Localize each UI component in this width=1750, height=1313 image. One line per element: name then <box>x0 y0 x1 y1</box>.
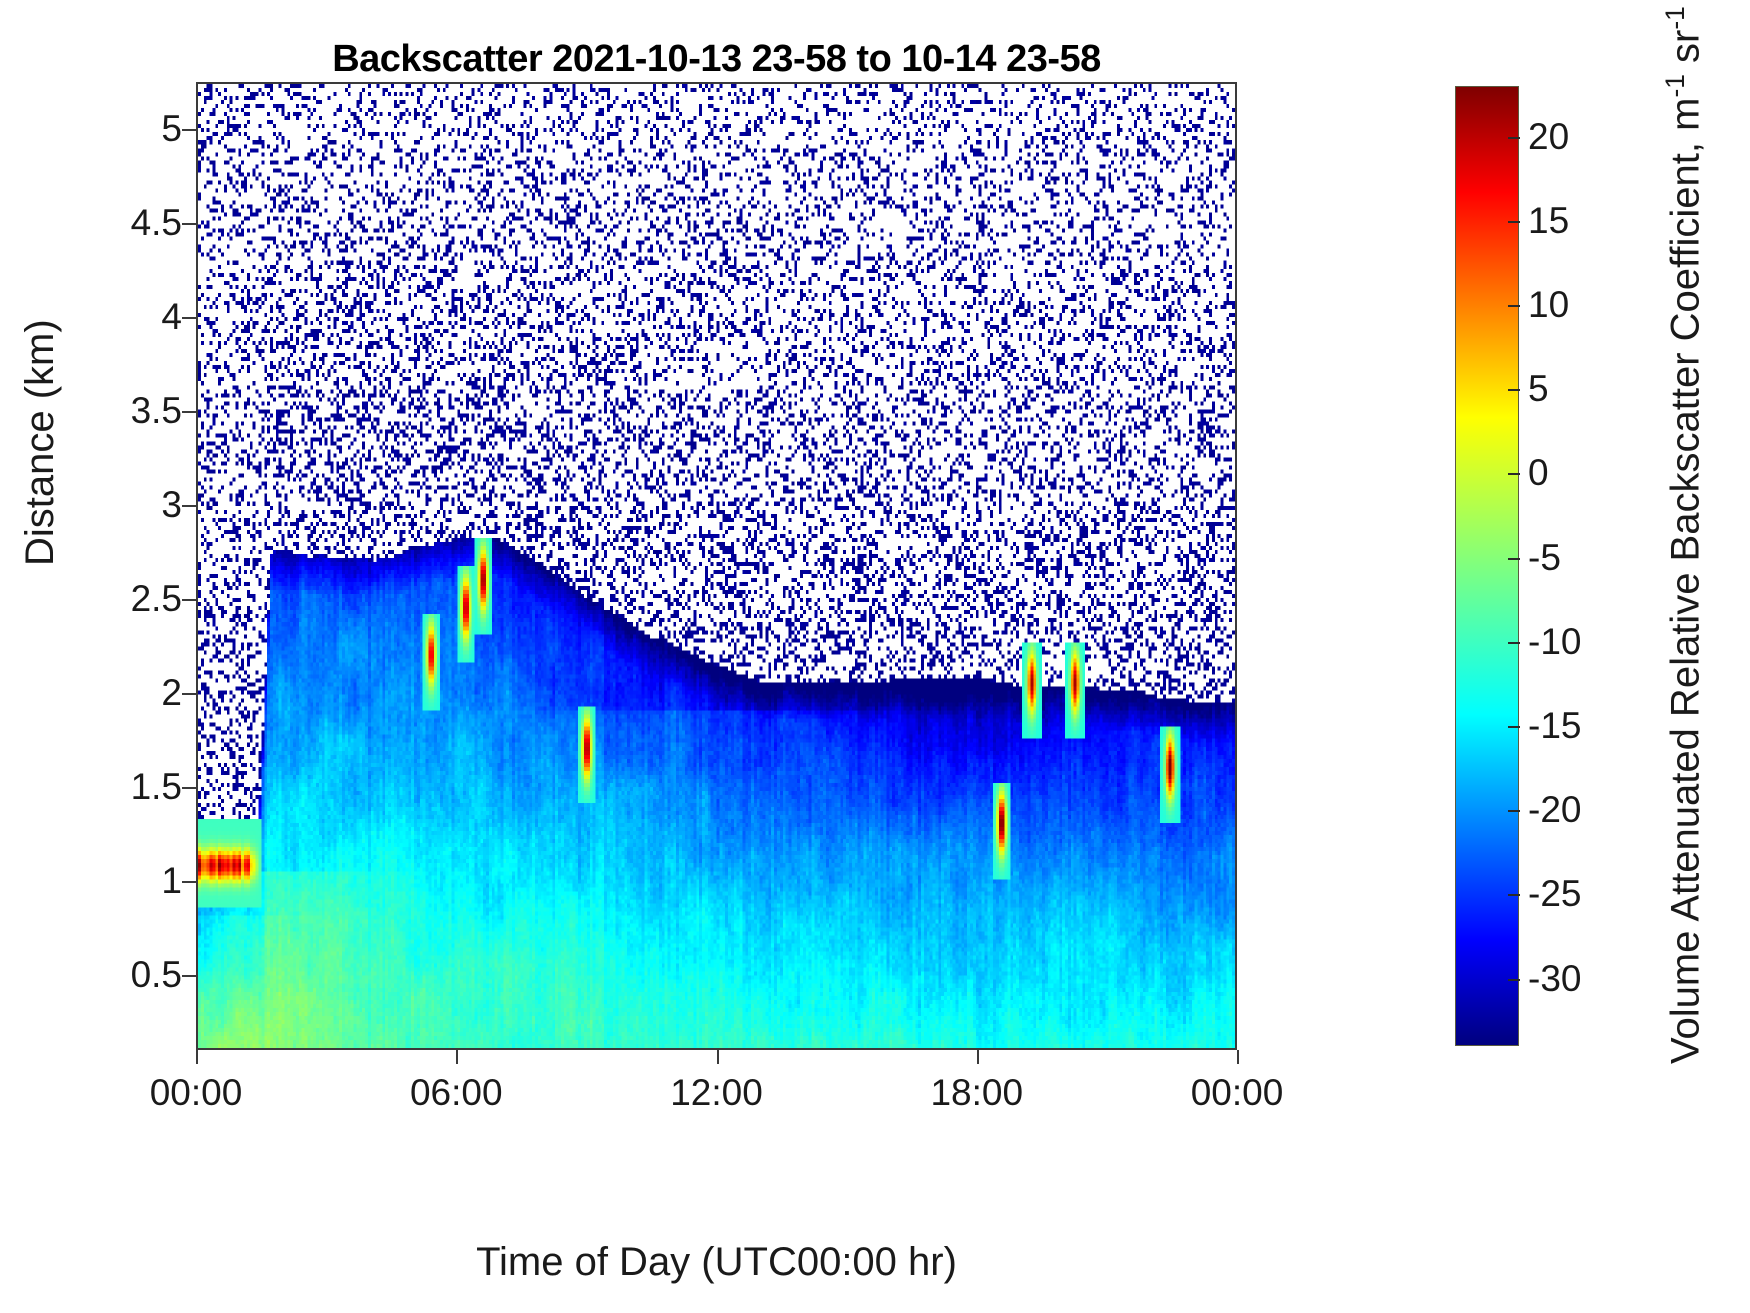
x-tick-label: 06:00 <box>410 1072 503 1114</box>
colorbar-label-prefix: Volume Attenuated Relative Backscatter C… <box>1663 98 1707 1064</box>
colorbar[interactable] <box>1455 86 1519 1046</box>
colorbar-tick-label: 0 <box>1528 452 1549 494</box>
colorbar-tick-mark <box>1508 642 1520 644</box>
y-tick-label: 3 <box>161 484 182 526</box>
colorbar-label-mid: sr <box>1663 30 1707 74</box>
y-tick-mark <box>182 975 196 977</box>
x-tick-mark <box>717 1050 719 1064</box>
x-tick-label: 00:00 <box>1191 1072 1284 1114</box>
colorbar-tick-mark <box>1508 894 1520 896</box>
x-tick-mark <box>456 1050 458 1064</box>
colorbar-tick-mark <box>1508 979 1520 981</box>
colorbar-tick-mark <box>1508 726 1520 728</box>
x-tick-mark <box>196 1050 198 1064</box>
y-tick-label: 2.5 <box>131 578 182 620</box>
colorbar-tick-label: -10 <box>1528 621 1581 663</box>
y-axis-label: Distance (km) <box>18 319 63 566</box>
colorbar-label: Volume Attenuated Relative Backscatter C… <box>1660 6 1708 1064</box>
x-tick-label: 12:00 <box>670 1072 763 1114</box>
x-axis-label: Time of Day (UTC00:00 hr) <box>196 1240 1237 1285</box>
heatmap-axes[interactable] <box>196 82 1237 1050</box>
colorbar-gradient <box>1456 87 1518 1045</box>
colorbar-tick-label: 20 <box>1528 116 1569 158</box>
colorbar-tick-mark <box>1508 137 1520 139</box>
page-title: Backscatter 2021-10-13 23-58 to 10-14 23… <box>196 38 1237 81</box>
y-tick-mark <box>182 223 196 225</box>
colorbar-tick-label: -30 <box>1528 958 1581 1000</box>
y-tick-label: 0.5 <box>131 954 182 996</box>
colorbar-tick-mark <box>1508 810 1520 812</box>
y-tick-mark <box>182 505 196 507</box>
y-tick-mark <box>182 881 196 883</box>
y-tick-label: 1 <box>161 860 182 902</box>
colorbar-tick-label: 15 <box>1528 200 1569 242</box>
y-tick-label: 4 <box>161 296 182 338</box>
y-tick-mark <box>182 317 196 319</box>
colorbar-label-exp1: -1 <box>1660 74 1690 97</box>
colorbar-tick-label: -15 <box>1528 705 1581 747</box>
colorbar-tick-mark <box>1508 389 1520 391</box>
colorbar-tick-label: 10 <box>1528 284 1569 326</box>
figure-canvas: Backscatter 2021-10-13 23-58 to 10-14 23… <box>0 0 1750 1313</box>
y-tick-label: 4.5 <box>131 202 182 244</box>
colorbar-label-exp2: -1 <box>1660 6 1690 29</box>
colorbar-tick-label: -20 <box>1528 789 1581 831</box>
backscatter-heatmap[interactable] <box>198 84 1235 1048</box>
x-tick-mark <box>977 1050 979 1064</box>
y-tick-mark <box>182 599 196 601</box>
colorbar-tick-mark <box>1508 558 1520 560</box>
colorbar-tick-label: 5 <box>1528 368 1549 410</box>
colorbar-tick-label: -5 <box>1528 537 1561 579</box>
colorbar-tick-mark <box>1508 473 1520 475</box>
y-tick-label: 1.5 <box>131 766 182 808</box>
colorbar-tick-label: -25 <box>1528 873 1581 915</box>
colorbar-tick-mark <box>1508 221 1520 223</box>
y-tick-label: 3.5 <box>131 390 182 432</box>
y-tick-label: 2 <box>161 672 182 714</box>
y-tick-mark <box>182 787 196 789</box>
y-tick-label: 5 <box>161 108 182 150</box>
colorbar-tick-mark <box>1508 305 1520 307</box>
y-tick-mark <box>182 693 196 695</box>
x-tick-label: 00:00 <box>150 1072 243 1114</box>
y-tick-mark <box>182 129 196 131</box>
x-tick-label: 18:00 <box>930 1072 1023 1114</box>
y-tick-mark <box>182 411 196 413</box>
x-tick-mark <box>1237 1050 1239 1064</box>
